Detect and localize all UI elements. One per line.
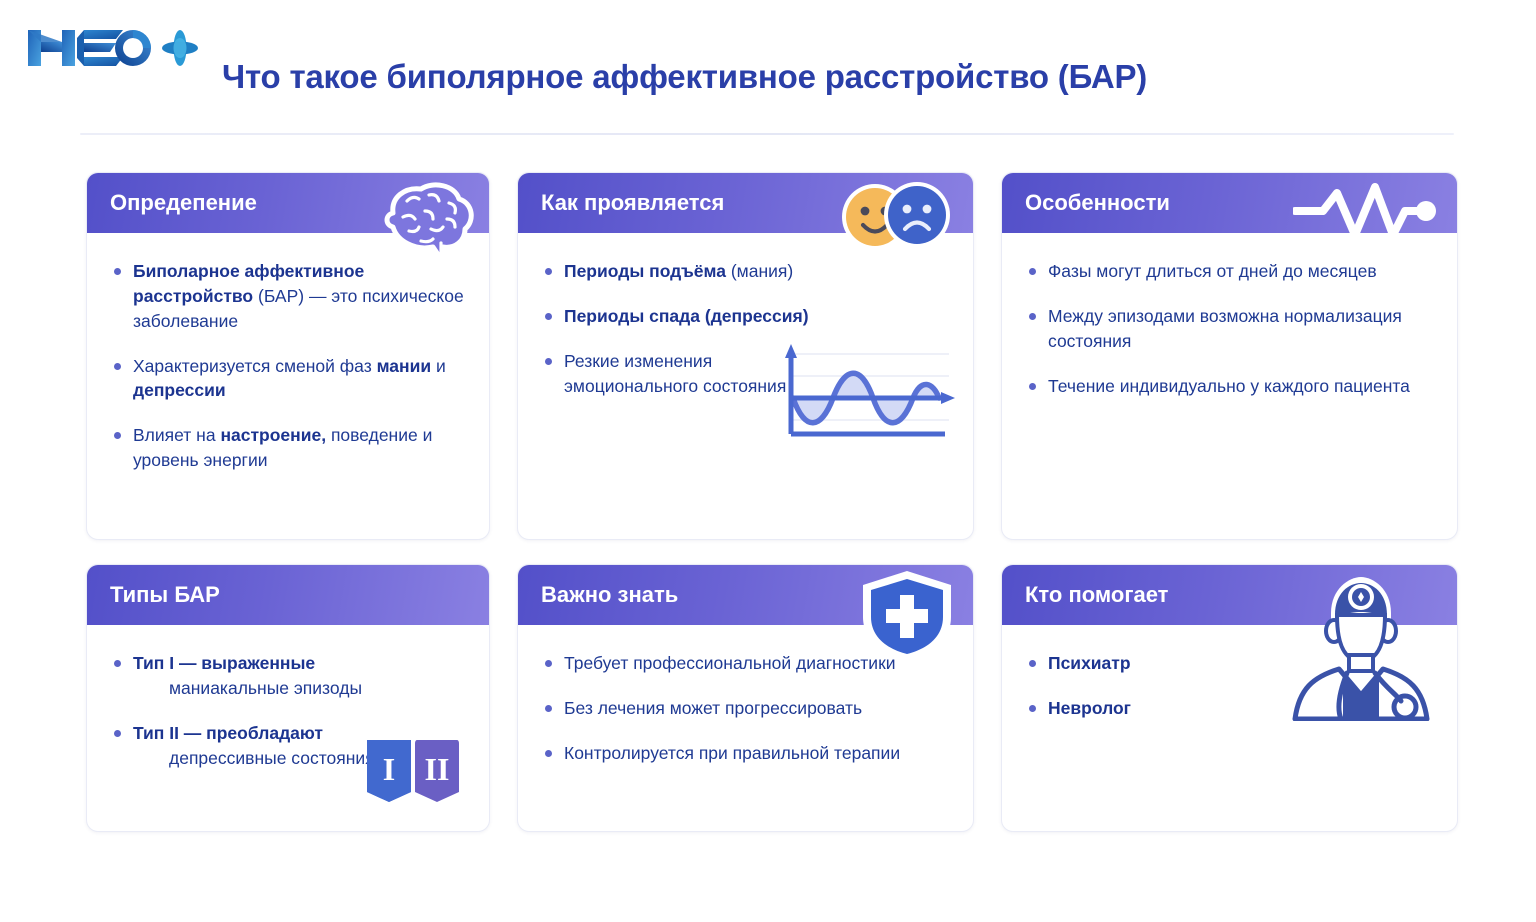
card-manifestation: Как проявляется: [517, 172, 974, 540]
card-title-types: Типы БАР: [87, 582, 220, 608]
card-header-types: Типы БАР: [87, 565, 489, 625]
card-body-manifestation: Периоды подъёма (мания) Периоды спада (д…: [518, 233, 973, 539]
cards-grid: Опредепение: [86, 172, 1458, 832]
mood-wave-chart-icon: [769, 338, 959, 443]
list-item: Контролируется при правильной терапии: [542, 741, 949, 766]
list-item: Периоды спада (депрессия): [542, 304, 822, 329]
svg-text:II: II: [425, 751, 450, 787]
card-body-features: Фазы могут длиться от дней до месяцев Ме…: [1002, 233, 1457, 539]
list-item: Влияет на настроение, поведение и уровен…: [111, 423, 465, 473]
card-header-definition: Опредепение: [87, 173, 489, 233]
list-item: Тип I — выраженные маниакальные эпизоды: [111, 651, 465, 701]
list-item: Требует профессиональной диагностики: [542, 651, 949, 676]
card-header-features: Особенности: [1002, 173, 1457, 233]
list-item: Невролог: [1026, 696, 1276, 721]
list-item: Течение индивидуально у каждого пациента: [1026, 374, 1433, 399]
types-badge-icon: I II: [361, 734, 469, 811]
list-item-sub: маниакальные эпизоды: [133, 676, 465, 701]
card-definition: Опредепение: [86, 172, 490, 540]
card-header-who-helps: Кто помогает: [1002, 565, 1457, 625]
card-title-definition: Опредепение: [87, 190, 257, 216]
page-title: Что такое биполярное аффективное расстро…: [222, 58, 1147, 96]
card-types: Типы БАР Тип I — выраженные маниакальные…: [86, 564, 490, 832]
card-title-features: Особенности: [1002, 190, 1170, 216]
bullet-list-features: Фазы могут длиться от дней до месяцев Ме…: [1026, 259, 1433, 398]
card-important: Важно знать Требует профессиональной диа…: [517, 564, 974, 832]
svg-text:I: I: [383, 751, 395, 787]
infographic-page: Что такое биполярное аффективное расстро…: [0, 0, 1536, 922]
card-header-manifestation: Как проявляется: [518, 173, 973, 233]
bullet-list-who-helps: Психиатр Невролог: [1026, 651, 1276, 721]
list-item: Фазы могут длиться от дней до месяцев: [1026, 259, 1433, 284]
header-divider: [80, 133, 1454, 135]
list-item: Периоды подъёма (мания): [542, 259, 822, 284]
card-title-important: Важно знать: [518, 582, 678, 608]
list-item: Биполарное аффективное расстройство (БАР…: [111, 259, 465, 334]
card-body-definition: Биполарное аффективное расстройство (БАР…: [87, 233, 489, 539]
card-title-who-helps: Кто помогает: [1002, 582, 1168, 608]
bullet-list-important: Требует профессиональной диагностики Без…: [542, 651, 949, 766]
card-body-important: Требует профессиональной диагностики Без…: [518, 625, 973, 831]
list-item: Психиатр: [1026, 651, 1276, 676]
card-who-helps: Кто помогает: [1001, 564, 1458, 832]
neo-plus-logo: [24, 18, 204, 80]
list-item: Между эпизодами возможна нормализация со…: [1026, 304, 1433, 354]
card-body-types: Тип I — выраженные маниакальные эпизоды …: [87, 625, 489, 831]
card-header-important: Важно знать: [518, 565, 973, 625]
list-item: Характеризуется сменой фаз мании и депре…: [111, 354, 465, 404]
bullet-list-definition: Биполарное аффективное расстройство (БАР…: [111, 259, 465, 473]
card-features: Особенности Фазы могут длиться от дней д…: [1001, 172, 1458, 540]
list-item: Без лечения может прогрессировать: [542, 696, 949, 721]
card-title-manifestation: Как проявляется: [518, 190, 724, 216]
card-body-who-helps: Психиатр Невролог: [1002, 625, 1457, 831]
